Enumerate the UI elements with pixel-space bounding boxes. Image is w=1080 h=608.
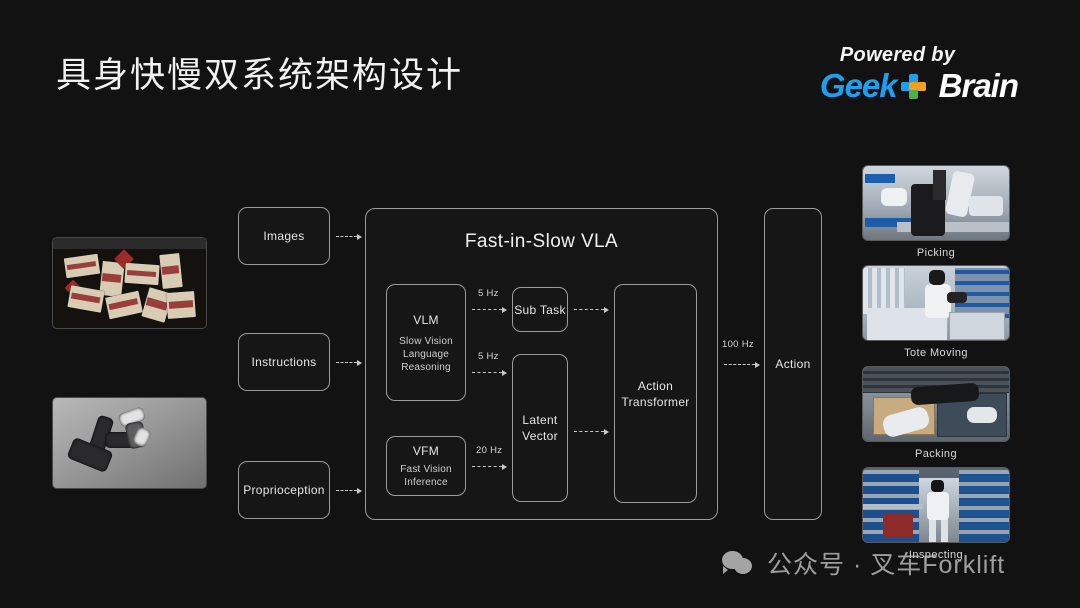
arrow-vlm-to-latent-vector (472, 368, 507, 377)
logo-powered-by-text: Powered by (840, 44, 1018, 66)
rate-label-vfm-latent: 20 Hz (476, 445, 502, 456)
page-title: 具身快慢双系统架构设计 (56, 54, 463, 98)
node-vlm[interactable]: VLM Slow Vision Language Reasoning (386, 284, 466, 401)
arrow-latent-vector-to-transformer (574, 427, 609, 436)
node-action[interactable]: Action (764, 208, 822, 520)
rate-label-transformer-action: 100 Hz (722, 339, 754, 350)
rate-label-vlm-sub-task: 5 Hz (478, 288, 499, 299)
arrow-sub-task-to-transformer (574, 305, 609, 314)
wechat-icon (722, 550, 756, 576)
robot-gripper-photo (52, 397, 207, 489)
node-latent-vector-label: Latent Vector (522, 412, 558, 444)
use-case-tote-moving-caption: Tote Moving (862, 347, 1010, 359)
use-case-packing[interactable]: Packing (862, 366, 1010, 460)
watermark-text: 公众号 · 叉车Forklift (767, 545, 1005, 581)
arrow-proprioception-to-vla (336, 486, 362, 495)
node-instructions-label: Instructions (252, 354, 317, 370)
rate-label-vlm-latent: 5 Hz (478, 351, 499, 362)
arrow-instructions-to-vla (336, 358, 362, 367)
plus-icon (901, 74, 926, 99)
logo-geek-text: Geek (820, 68, 897, 104)
humanoid-tote-moving-photo (862, 265, 1010, 341)
arrow-vlm-to-sub-task (472, 305, 507, 314)
node-instructions[interactable]: Instructions (238, 333, 330, 391)
node-vfm[interactable]: VFM Fast Vision Inference (386, 436, 466, 496)
watermark: 公众号 · 叉车Forklift (722, 545, 1005, 581)
node-proprioception[interactable]: Proprioception (238, 461, 330, 519)
node-sub-task[interactable]: Sub Task (512, 287, 568, 332)
node-action-transformer[interactable]: Action Transformer (614, 284, 697, 503)
use-case-picking-caption: Picking (862, 247, 1010, 259)
node-vfm-label: VFM (413, 443, 439, 459)
use-case-picking[interactable]: Picking (862, 165, 1010, 259)
vla-title: Fast-in-Slow VLA (366, 231, 717, 253)
node-action-transformer-label: Action Transformer (621, 378, 689, 410)
node-action-label: Action (775, 356, 810, 372)
arrow-transformer-to-action (724, 360, 760, 369)
logo-brain-text: Brain (939, 68, 1018, 104)
robot-arms-picking-photo (862, 165, 1010, 241)
node-proprioception-label: Proprioception (243, 482, 325, 498)
arrow-images-to-vla (336, 232, 362, 241)
logo-wordmark: Geek Brain (820, 68, 1018, 104)
node-vlm-label: VLM (413, 312, 439, 328)
node-vlm-sublabel: Slow Vision Language Reasoning (399, 335, 453, 374)
node-sub-task-label: Sub Task (514, 302, 566, 318)
humanoid-aisle-inspecting-photo (862, 467, 1010, 543)
bin-of-packages-photo (52, 237, 207, 329)
use-case-tote-moving[interactable]: Tote Moving (862, 265, 1010, 359)
node-vfm-sublabel: Fast Vision Inference (400, 463, 451, 489)
robot-packing-photo (862, 366, 1010, 442)
node-images[interactable]: Images (238, 207, 330, 265)
node-images-label: Images (263, 228, 304, 244)
node-latent-vector[interactable]: Latent Vector (512, 354, 568, 502)
use-case-packing-caption: Packing (862, 448, 1010, 460)
slide-canvas: 具身快慢双系统架构设计 Powered by Geek Brain (0, 0, 1080, 608)
arrow-vfm-to-latent-vector (472, 462, 507, 471)
brand-logo: Powered by Geek Brain (820, 44, 1018, 104)
